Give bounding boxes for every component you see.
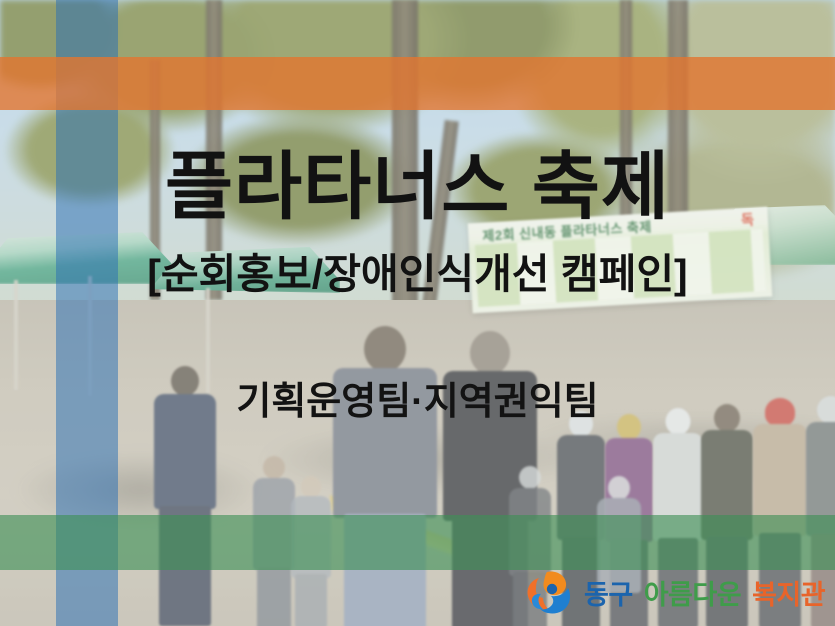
dongu-welfare-center-logo-icon [525,569,575,615]
organization-logo: 동구 아름다운 복지관 [525,567,825,617]
green-horizontal-band [0,515,835,570]
logo-word-areumdaun: 아름다운 [644,573,741,612]
logo-word-dongu: 동구 [584,573,633,612]
logo-wordmark: 동구 아름다운 복지관 [584,573,825,612]
poster-slide: 제2회 신내동 플라타너스 축제 독 [0,0,835,626]
orange-horizontal-band [0,57,835,110]
logo-word-bokjigwan: 복지관 [752,573,825,612]
poster-title: 플라타너스 축제 [0,150,835,224]
poster-subtitle: [순회홍보/장애인식개선 캠페인] [0,254,835,295]
poster-team: 기획운영팀·지역권익팀 [0,383,835,421]
